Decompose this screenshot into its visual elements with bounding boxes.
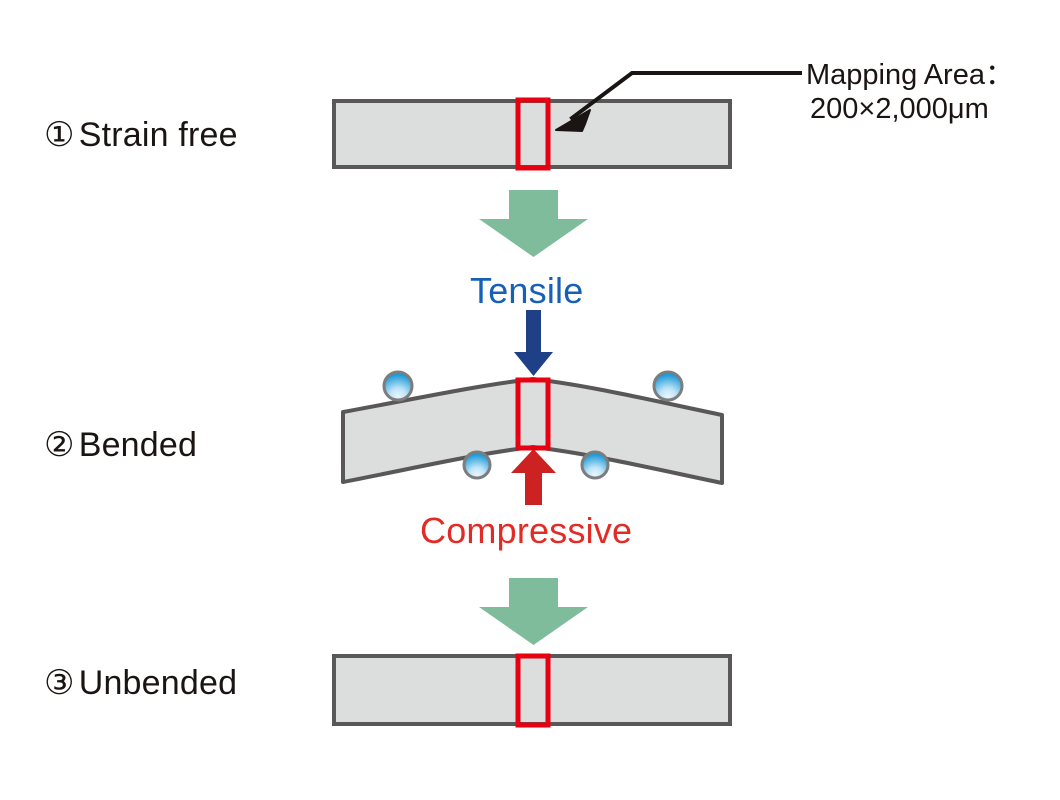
step-label-strain-free: ①Strain free	[44, 115, 238, 155]
callout-line-1: Mapping Area：	[806, 59, 1014, 91]
force-label-compressive: Compressive	[420, 510, 632, 552]
support-sphere-top-right	[654, 372, 682, 400]
step-label-unbended: ③Unbended	[44, 663, 237, 703]
support-sphere-top-left	[384, 372, 412, 400]
transition-arrow-down-1	[479, 190, 588, 257]
specimen-bar-flat-top	[334, 101, 730, 167]
step-label-bended: ②Bended	[44, 425, 197, 465]
specimen-unbended	[334, 656, 730, 725]
tensile-arrow	[514, 310, 553, 376]
callout-line-2: 200×2,000μm	[806, 92, 1014, 126]
diagram-canvas: ①Strain free ②Bended ③Unbended Tensile C…	[0, 0, 1060, 800]
step-text-3: Unbended	[79, 664, 238, 702]
step-marker-1: ①	[44, 115, 75, 155]
transition-arrow-down-2	[479, 578, 588, 645]
support-sphere-bottom-left	[464, 452, 490, 478]
step-text-2: Bended	[79, 426, 197, 464]
specimen-strain-free	[334, 100, 730, 168]
step-marker-3: ③	[44, 663, 75, 703]
callout-label: Mapping Area： 200×2,000μm	[806, 58, 1014, 126]
step-text-1: Strain free	[79, 116, 238, 154]
specimen-bar-flat-bottom	[334, 656, 730, 724]
force-label-tensile: Tensile	[470, 270, 583, 312]
support-sphere-bottom-right	[582, 452, 608, 478]
compressive-arrow	[511, 449, 556, 505]
step-marker-2: ②	[44, 425, 75, 465]
